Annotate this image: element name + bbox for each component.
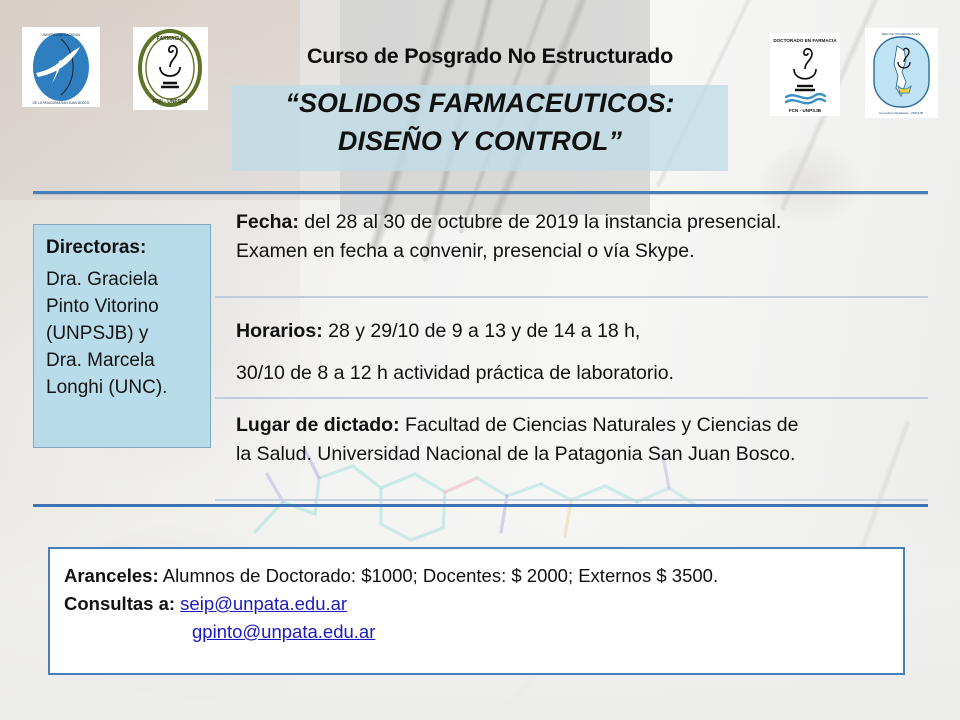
doctorado-farmacia-seal-icon: DOCTORADO EN FARMACIA FCN - UNPSJB bbox=[770, 33, 840, 116]
info-fecha-line1: Fecha: del 28 al 30 de octubre de 2019 l… bbox=[236, 208, 928, 237]
logo-doctorado-en-farmacia: DOCTORADO EN FARMACIA FCN - UNPSJB bbox=[770, 33, 840, 116]
info-fecha-value: del 28 al 30 de octubre de 2019 la insta… bbox=[299, 211, 781, 233]
aranceles-value: Alumnos de Doctorado: $1000; Docentes: $… bbox=[159, 565, 718, 586]
page-title: “SOLIDOS FARMACEUTICOS: DISEÑO Y CONTROL… bbox=[220, 84, 740, 160]
info-lugar-line2: la Salud. Universidad Nacional de la Pat… bbox=[236, 440, 928, 469]
directoras-text: Dra. Graciela Pinto Vitorino (UNPSJB) y … bbox=[46, 266, 200, 401]
directoras-line-4: Dra. Marcela bbox=[46, 347, 200, 374]
aranceles-label: Aranceles: bbox=[64, 565, 159, 586]
directoras-line-5: Longhi (UNC). bbox=[46, 374, 200, 401]
svg-text:UNIVERSIDAD NACIONAL: UNIVERSIDAD NACIONAL bbox=[42, 33, 81, 37]
info-horarios-line1: Horarios: 28 y 29/10 de 9 a 13 y de 14 a… bbox=[236, 310, 928, 352]
info-horarios-label: Horarios: bbox=[236, 320, 323, 342]
divider-top-shadow bbox=[33, 194, 928, 195]
logo-red-universidades: RED DE UNIVERSIDADES Comodoro Rivadavia … bbox=[865, 28, 938, 118]
info-lugar-value: Facultad de Ciencias Naturales y Ciencia… bbox=[400, 414, 799, 436]
svg-text:FCN - UNPSJB: FCN - UNPSJB bbox=[789, 108, 822, 113]
consultas-label: Consultas a: bbox=[64, 593, 175, 614]
divider-fecha-horarios bbox=[215, 296, 928, 298]
info-lugar-label: Lugar de dictado: bbox=[236, 414, 400, 436]
farmacia-seal-icon: FARMACIA FCN - UNPSJB bbox=[133, 27, 208, 110]
svg-text:DOCTORADO EN FARMACIA: DOCTORADO EN FARMACIA bbox=[773, 38, 837, 43]
poster-canvas: UNIVERSIDAD NACIONAL DE LA PATAGONIA SAN… bbox=[0, 0, 960, 720]
info-fecha-label: Fecha: bbox=[236, 211, 299, 233]
aranceles-line: Aranceles: Alumnos de Doctorado: $1000; … bbox=[64, 562, 903, 590]
logo-farmacia: FARMACIA FCN - UNPSJB bbox=[133, 27, 208, 110]
divider-horarios-lugar bbox=[215, 397, 928, 399]
email-link-seip[interactable]: seip@unpata.edu.ar bbox=[180, 593, 347, 614]
directoras-heading: Directoras: bbox=[46, 235, 200, 261]
directoras-box: Directoras: Dra. Graciela Pinto Vitorino… bbox=[33, 224, 211, 448]
divider-bottom bbox=[33, 504, 928, 507]
info-lugar: Lugar de dictado: Facultad de Ciencias N… bbox=[236, 411, 928, 469]
page-title-line2: DISEÑO Y CONTROL” bbox=[220, 122, 740, 160]
svg-text:Comodoro Rivadavia - UNPSJB: Comodoro Rivadavia - UNPSJB bbox=[879, 111, 923, 115]
red-universidades-seal-icon: RED DE UNIVERSIDADES Comodoro Rivadavia … bbox=[865, 28, 938, 118]
info-fecha: Fecha: del 28 al 30 de octubre de 2019 l… bbox=[236, 208, 928, 266]
consultas-line: Consultas a: seip@unpata.edu.ar bbox=[64, 590, 903, 618]
svg-text:DE LA PATAGONIA SAN JUAN BOSCO: DE LA PATAGONIA SAN JUAN BOSCO bbox=[33, 101, 90, 105]
page-title-line1: “SOLIDOS FARMACEUTICOS: bbox=[220, 84, 740, 122]
aranceles-box: Aranceles: Alumnos de Doctorado: $1000; … bbox=[48, 547, 905, 675]
logo-unpsjb: UNIVERSIDAD NACIONAL DE LA PATAGONIA SAN… bbox=[22, 27, 100, 107]
directoras-line-2: Pinto Vitorino bbox=[46, 293, 200, 320]
directoras-line-1: Dra. Graciela bbox=[46, 266, 200, 293]
page-kicker: Curso de Posgrado No Estructurado bbox=[240, 44, 740, 69]
svg-text:FARMACIA: FARMACIA bbox=[157, 36, 184, 42]
info-lugar-line1: Lugar de dictado: Facultad de Ciencias N… bbox=[236, 411, 928, 440]
divider-bottom-thin bbox=[215, 499, 928, 501]
info-horarios-line2: 30/10 de 8 a 12 h actividad práctica de … bbox=[236, 352, 928, 394]
svg-text:RED DE UNIVERSIDADES: RED DE UNIVERSIDADES bbox=[882, 32, 920, 36]
svg-text:FCN - UNPSJB: FCN - UNPSJB bbox=[152, 99, 187, 105]
directoras-line-3: (UNPSJB) y bbox=[46, 320, 200, 347]
unpsjb-seal-icon: UNIVERSIDAD NACIONAL DE LA PATAGONIA SAN… bbox=[22, 27, 100, 107]
info-fecha-line2: Examen en fecha a convenir, presencial o… bbox=[236, 237, 928, 266]
email-link-gpinto[interactable]: gpinto@unpata.edu.ar bbox=[192, 621, 375, 642]
info-horarios: Horarios: 28 y 29/10 de 9 a 13 y de 14 a… bbox=[236, 310, 928, 394]
consultas-line-2: gpinto@unpata.edu.ar bbox=[64, 618, 903, 646]
info-horarios-value: 28 y 29/10 de 9 a 13 y de 14 a 18 h, bbox=[323, 320, 641, 342]
